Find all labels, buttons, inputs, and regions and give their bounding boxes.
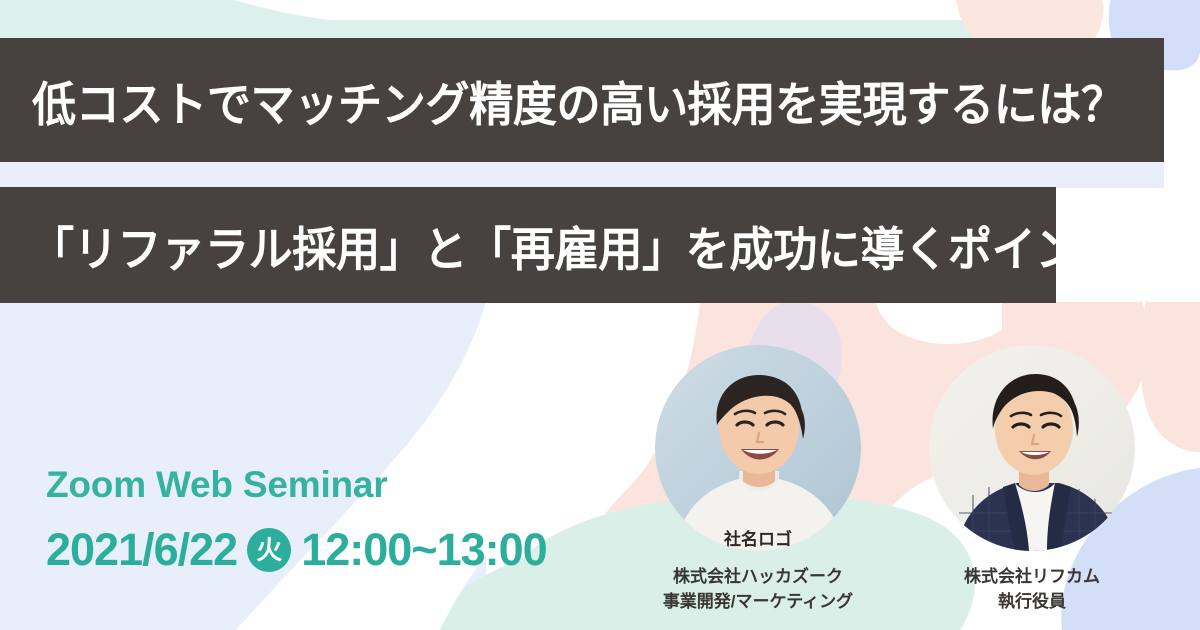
title-bar-secondary: 「リファラル採用」と「再雇用」を成功に導くポイント: [0, 187, 1056, 303]
portrait-left-illustration: 社名ロゴ: [655, 345, 861, 551]
title-line-1: 低コストでマッチング精度の高い採用を実現するには？: [32, 66, 1125, 135]
speaker-left-caption: 株式会社ハッカズーク 事業開発/マーケティング: [628, 565, 888, 614]
event-datetime-row: 2021/6/22 火 12:00~13:00: [46, 527, 547, 572]
event-date: 2021/6/22: [46, 527, 237, 572]
speaker-right-role: 執行役員: [902, 590, 1162, 615]
lavender-band: [0, 162, 1164, 188]
event-time: 12:00~13:00: [301, 527, 546, 572]
webinar-banner: 低コストでマッチング精度の高い採用を実現するには？ 「リファラル採用」と「再雇用…: [0, 0, 1200, 630]
event-info-block: Zoom Web Seminar 2021/6/22 火 12:00~13:00: [46, 466, 547, 572]
seminar-type-label: Zoom Web Seminar: [46, 466, 547, 503]
svg-text:社名ロゴ: 社名ロゴ: [723, 529, 792, 549]
title-bar-primary: 低コストでマッチング精度の高い採用を実現するには？: [0, 38, 1164, 162]
portrait-right-illustration: [929, 345, 1135, 551]
speaker-left-role: 事業開発/マーケティング: [628, 590, 888, 615]
weekday-badge: 火: [247, 528, 291, 572]
speaker-left-company: 株式会社ハッカズーク: [628, 565, 888, 590]
title-line-2: 「リファラル採用」と「再雇用」を成功に導くポイント: [30, 211, 1123, 280]
speaker-right-caption: 株式会社リフカム 執行役員: [902, 565, 1162, 614]
speaker-card-left: 社名ロゴ 株式会社ハッカズーク 事業開発/マーケティング: [628, 345, 888, 614]
speaker-photo-left: 社名ロゴ: [655, 345, 861, 551]
speaker-card-right: 株式会社リフカム 執行役員: [902, 345, 1162, 614]
speaker-photo-right: [929, 345, 1135, 551]
speaker-right-company: 株式会社リフカム: [902, 565, 1162, 590]
